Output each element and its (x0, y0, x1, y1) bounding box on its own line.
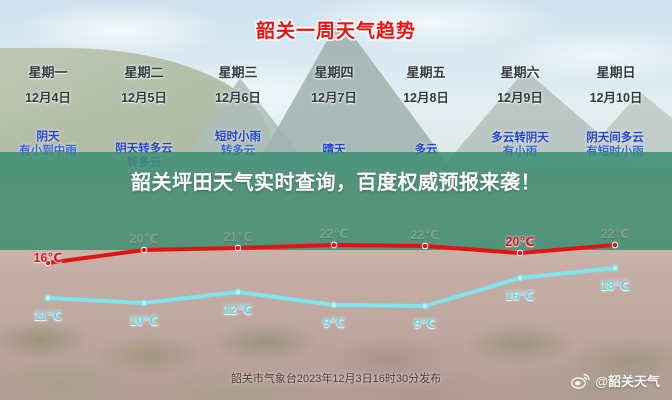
low-temp-label-5: 16℃ (485, 288, 555, 303)
high-temp-label-2: 21℃ (203, 229, 273, 244)
weibo-handle: @韶关天气 (595, 371, 660, 390)
low-temp-label-2: 12℃ (203, 302, 273, 317)
low-temp-label-0: 11℃ (13, 308, 83, 323)
low-temp-label-3: 9℃ (299, 315, 369, 330)
weibo-watermark: @韶关天气 (571, 371, 660, 390)
high-temp-label-3: 22℃ (299, 226, 369, 241)
weibo-icon (571, 373, 590, 389)
low-temp-label-1: 10℃ (109, 313, 179, 328)
high-temp-label-6: 22℃ (580, 226, 650, 241)
high-temp-label-0: 16℃ (13, 250, 83, 265)
high-temp-label-4: 22℃ (390, 227, 460, 242)
weather-trend-card: 韶关一周天气趋势 星期一 12月4日 星期二 12月5日 星期三 12月6日 星… (0, 0, 672, 400)
high-temp-label-1: 20℃ (109, 231, 179, 246)
low-temp-label-6: 18℃ (580, 278, 650, 293)
low-temp-label-4: 9℃ (390, 316, 460, 331)
temperature-chart (0, 0, 672, 400)
high-temp-label-5: 20℃ (485, 234, 555, 249)
